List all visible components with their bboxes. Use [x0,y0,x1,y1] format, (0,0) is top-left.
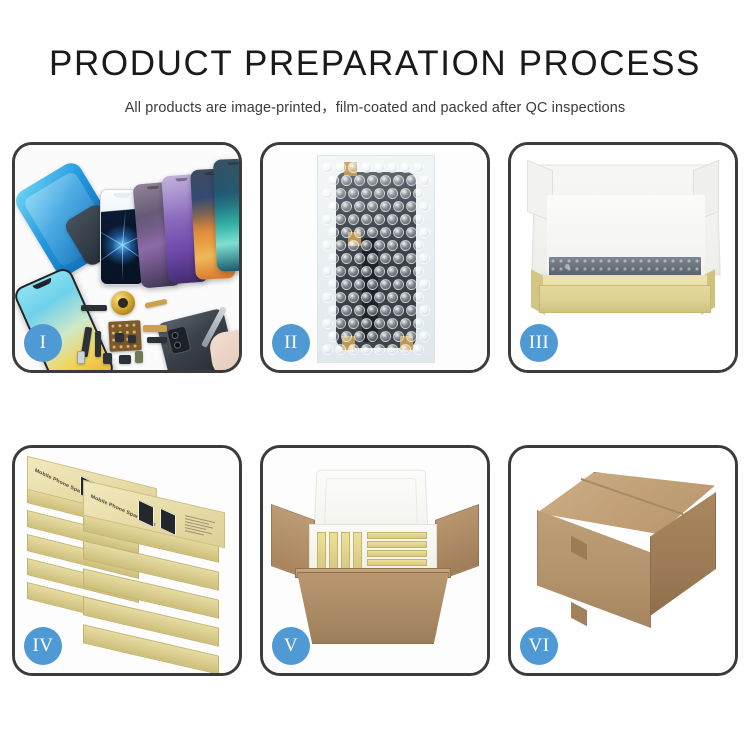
page-title: PRODUCT PREPARATION PROCESS [0,44,750,84]
burst-ray [122,245,123,281]
process-step-panel-6[interactable]: VI [508,445,738,676]
small-component-icon [115,333,124,342]
process-step-panel-1[interactable]: I [12,142,242,373]
step-badge-1: I [24,324,62,362]
flex-cable-icon [81,305,107,311]
box-base-front-icon [539,285,711,313]
phone-notch [32,278,52,291]
flex-cable-icon [147,337,167,343]
phone-notch [227,162,239,165]
vibration-motor-icon [111,291,135,315]
camera-module-icon [166,325,192,355]
bubble-wrap-bag-icon [317,155,435,363]
step-badge-2: II [272,324,310,362]
process-step-grid: I [12,142,738,676]
small-component-icon [135,351,143,363]
flex-cable-icon [95,331,101,357]
box-spec-lines [185,515,217,540]
page-subtitle: All products are image-printed，film-coat… [0,96,750,117]
process-step-panel-2[interactable]: II [260,142,490,373]
process-step-panel-4[interactable]: Mobile Phone Spare Parts [12,445,242,676]
flex-cable-icon [143,325,167,332]
preparation-process-infographic: PRODUCT PREPARATION PROCESS All products… [0,0,750,750]
step-badge-4: IV [24,627,62,665]
step-badge-5: V [272,627,310,665]
process-step-panel-5[interactable]: V [260,445,490,676]
bubble-texture [318,156,434,362]
process-step-panel-3[interactable]: III [508,142,738,373]
carton-body-icon [297,572,449,644]
small-component-icon [128,335,136,343]
box-window-image [138,499,154,527]
step-badge-3: III [520,324,558,362]
header: PRODUCT PREPARATION PROCESS All products… [0,0,750,117]
phone-notch [147,186,159,190]
step-badge-6: VI [520,627,558,665]
chip-array-icon [108,320,142,352]
phone-notch [175,178,187,182]
phone-device-icon [213,158,239,271]
sim-tray-icon [77,351,85,364]
box-window-image [160,508,176,536]
glass-notch [114,193,131,198]
small-component-icon [103,353,112,364]
small-component-icon [119,355,131,364]
